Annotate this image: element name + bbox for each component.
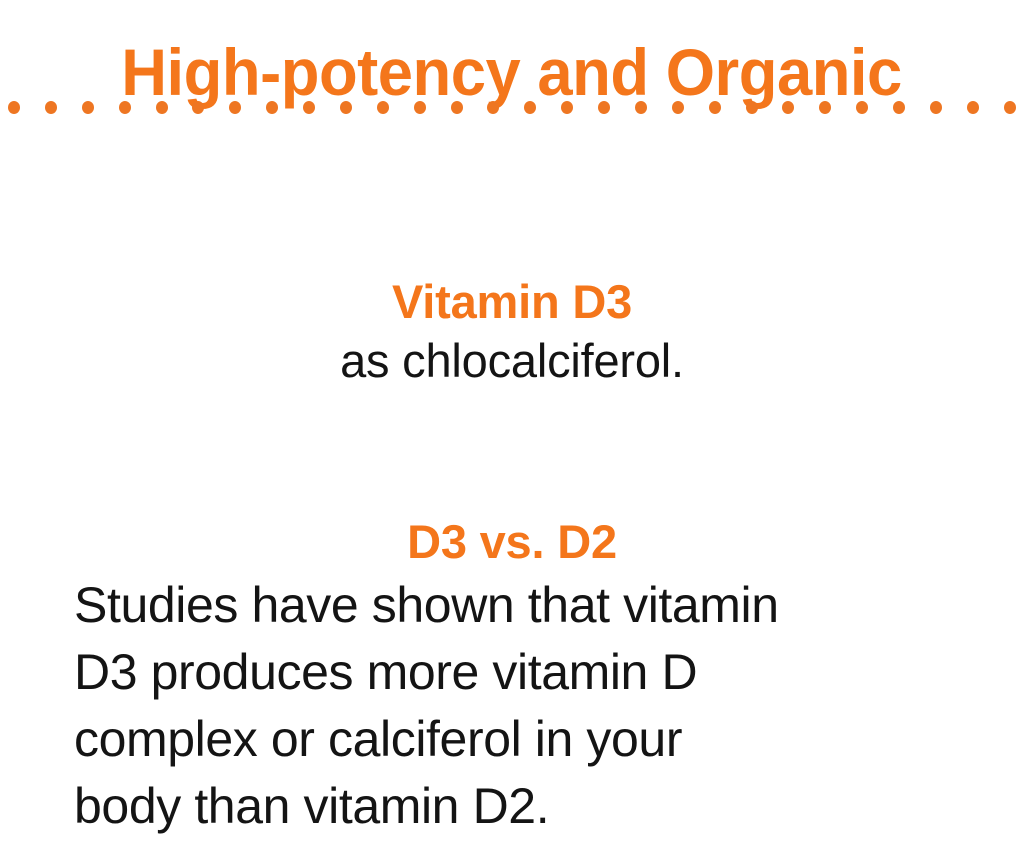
divider-dot bbox=[893, 101, 905, 114]
page-title: High-potency and Organic bbox=[122, 36, 903, 108]
divider-dot bbox=[451, 101, 463, 114]
divider-dot bbox=[1004, 101, 1016, 114]
divider-dot bbox=[635, 101, 647, 114]
divider-dot bbox=[82, 101, 94, 114]
divider-dot bbox=[782, 101, 794, 114]
divider-dot bbox=[856, 101, 868, 114]
body-line: D3 produces more vitamin D bbox=[74, 639, 984, 706]
section-heading-d3-vs-d2: D3 vs. D2 bbox=[0, 512, 1024, 572]
divider-dot bbox=[266, 101, 278, 114]
divider-dot bbox=[340, 101, 352, 114]
divider-dot bbox=[524, 101, 536, 114]
section-heading-vitamin-d3: Vitamin D3 bbox=[0, 272, 1024, 332]
body-line: Studies have shown that vitamin bbox=[74, 572, 984, 639]
body-line: body than vitamin D2. bbox=[74, 773, 984, 840]
divider-dot bbox=[561, 101, 573, 114]
section-body-d3-vs-d2: Studies have shown that vitaminD3 produc… bbox=[0, 572, 1024, 840]
divider-dot bbox=[746, 101, 758, 114]
divider-dot bbox=[119, 101, 131, 114]
section-vitamin-d3: Vitamin D3 as chlocalciferol. bbox=[0, 272, 1024, 390]
divider-dot bbox=[192, 101, 204, 114]
page-title-band: High-potency and Organic bbox=[0, 0, 1024, 152]
divider-dot bbox=[414, 101, 426, 114]
section-d3-vs-d2: D3 vs. D2 Studies have shown that vitami… bbox=[0, 512, 1024, 840]
divider-dot bbox=[45, 101, 57, 114]
divider-dot bbox=[377, 101, 389, 114]
divider-dot bbox=[156, 101, 168, 114]
divider-dot bbox=[8, 101, 20, 114]
section-body-vitamin-d3: as chlocalciferol. bbox=[0, 332, 1024, 390]
divider-dot bbox=[672, 101, 684, 114]
dotted-divider bbox=[0, 99, 1024, 115]
divider-dot bbox=[967, 101, 979, 114]
divider-dot bbox=[229, 101, 241, 114]
infographic-panel: High-potency and Organic Vitamin D3 as c… bbox=[0, 0, 1024, 845]
divider-dot bbox=[303, 101, 315, 114]
divider-dot bbox=[598, 101, 610, 114]
divider-dot bbox=[709, 101, 721, 114]
divider-dot bbox=[487, 101, 499, 114]
divider-dot bbox=[819, 101, 831, 114]
divider-dot bbox=[930, 101, 942, 114]
body-line: complex or calciferol in your bbox=[74, 706, 984, 773]
